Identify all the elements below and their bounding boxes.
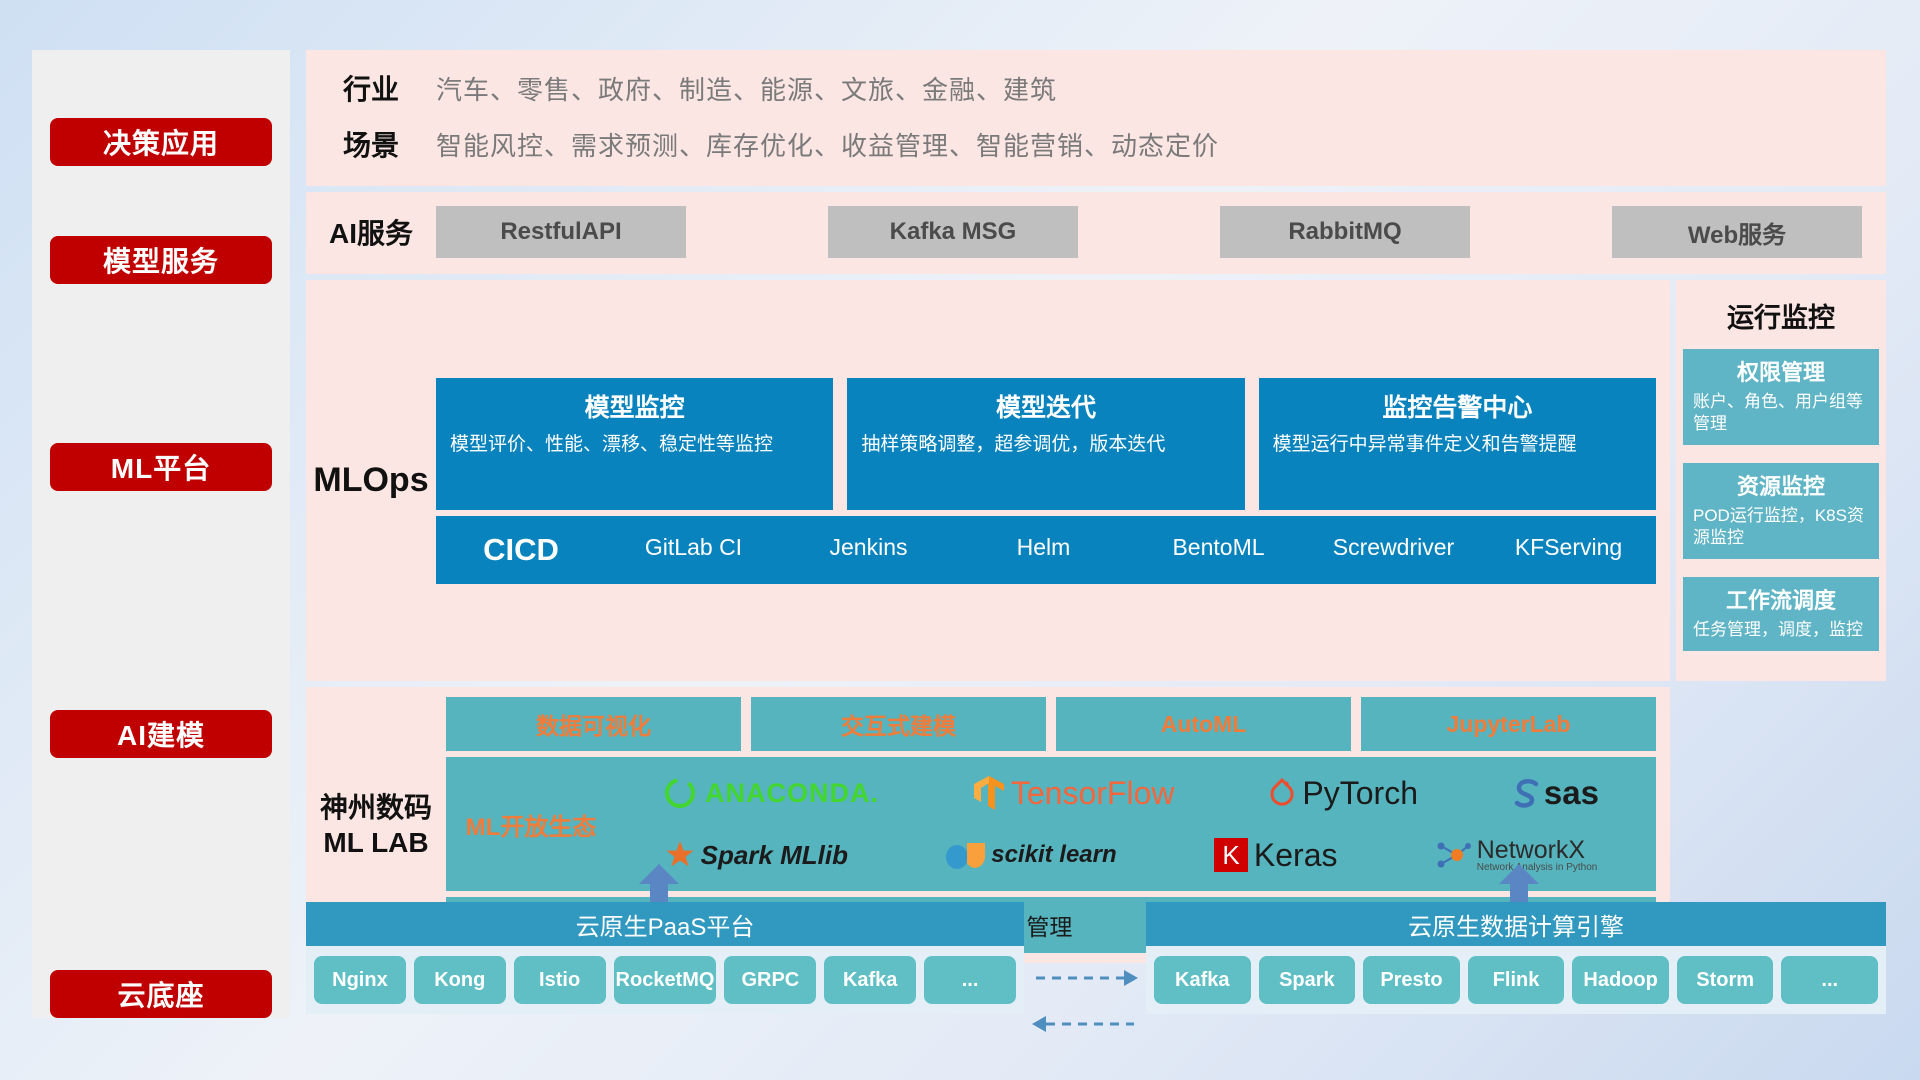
diagram-canvas: 决策应用 模型服务 ML平台 AI建模 云底座 行业 汽车、零售、政府、制造、能…: [0, 0, 1920, 1080]
industry-values: 汽车、零售、政府、制造、能源、文旅、金融、建筑: [436, 70, 1057, 107]
anaconda-icon: [663, 776, 697, 810]
mlops-card-alert-center[interactable]: 监控告警中心 模型运行中异常事件定义和告警提醒: [1259, 378, 1656, 510]
tensorflow-label: TensorFlow: [1011, 775, 1175, 812]
cloud-compute-box: 云原生数据计算引擎 Kafka Spark Presto Flink Hadoo…: [1146, 902, 1886, 1014]
rail-label: 决策应用: [103, 122, 219, 162]
cicd-item[interactable]: Screwdriver: [1306, 535, 1481, 565]
cloud-chip-kafka[interactable]: Kafka: [824, 956, 916, 1004]
industry-label: 行业: [306, 68, 436, 108]
ml-ecosystem-logo-row-1: ANACONDA. TensorFlow: [616, 763, 1646, 823]
sas-icon: [1512, 776, 1542, 810]
runtime-monitor-panel: 运行监控 权限管理 账户、角色、用户组等管理 资源监控 POD运行监控，K8S资…: [1676, 280, 1886, 681]
left-layer-rail: 决策应用 模型服务 ML平台 AI建模 云底座: [32, 50, 290, 1018]
ai-service-chip[interactable]: Kafka MSG: [828, 206, 1078, 258]
pytorch-icon: [1268, 776, 1296, 810]
monitor-card-workflow[interactable]: 工作流调度 任务管理，调度，监控: [1683, 577, 1879, 651]
cicd-bar: CICD GitLab CI Jenkins Helm BentoML Scre…: [436, 516, 1656, 584]
cicd-item[interactable]: GitLab CI: [606, 535, 781, 565]
ml-lab-chip-automl[interactable]: AutoML: [1056, 697, 1351, 751]
ai-service-chip[interactable]: RabbitMQ: [1220, 206, 1470, 258]
rail-label: 模型服务: [103, 240, 219, 280]
ml-lab-label: 神州数码 ML LAB: [306, 790, 446, 860]
networkx-label: NetworkX: [1477, 838, 1598, 863]
cloud-chip-storm[interactable]: Storm: [1677, 956, 1774, 1004]
rail-item-model-service[interactable]: 模型服务: [50, 236, 272, 284]
cloud-chip-flink[interactable]: Flink: [1468, 956, 1565, 1004]
cloud-paas-box: 云原生PaaS平台 Nginx Kong Istio RocketMQ GRPC…: [306, 902, 1024, 1014]
cloud-chip-rocketmq[interactable]: RocketMQ: [614, 956, 717, 1004]
cloud-chip-istio[interactable]: Istio: [514, 956, 606, 1004]
monitor-card-title: 工作流调度: [1693, 583, 1869, 615]
ml-lab-label-line2: ML LAB: [306, 825, 446, 860]
cicd-item-list: GitLab CI Jenkins Helm BentoML Screwdriv…: [606, 535, 1656, 565]
cloud-chip-presto[interactable]: Presto: [1363, 956, 1460, 1004]
cloud-compute-chip-list: Kafka Spark Presto Flink Hadoop Storm ..…: [1146, 946, 1886, 1014]
ai-service-label: AI服务: [306, 212, 436, 252]
anaconda-label: ANACONDA.: [705, 778, 879, 809]
ai-service-chip-list: RestfulAPI Kafka MSG RabbitMQ Web服务: [436, 206, 1886, 258]
rail-item-decision-app[interactable]: 决策应用: [50, 118, 272, 166]
cloud-paas-title: 云原生PaaS平台: [306, 902, 1024, 946]
scenario-values: 智能风控、需求预测、库存优化、收益管理、智能营销、动态定价: [436, 126, 1219, 163]
mlops-card-desc: 模型运行中异常事件定义和告警提醒: [1273, 432, 1642, 458]
monitor-card-desc: POD运行监控，K8S资源监控: [1693, 505, 1869, 549]
ai-service-band: AI服务 RestfulAPI Kafka MSG RabbitMQ Web服务: [306, 192, 1886, 274]
mlops-card-title: 监控告警中心: [1273, 388, 1642, 424]
cloud-chip-hadoop[interactable]: Hadoop: [1572, 956, 1669, 1004]
mlops-row: MLOps 模型监控 模型评价、性能、漂移、稳定性等监控 模型迭代 抽样策略调整…: [306, 280, 1886, 681]
pytorch-logo: PyTorch: [1268, 775, 1418, 812]
cicd-item[interactable]: Jenkins: [781, 535, 956, 565]
monitor-card-permission[interactable]: 权限管理 账户、角色、用户组等管理: [1683, 349, 1879, 445]
monitor-card-title: 资源监控: [1693, 469, 1869, 501]
mlops-card-model-monitoring[interactable]: 模型监控 模型评价、性能、漂移、稳定性等监控: [436, 378, 833, 510]
mlops-card-desc: 模型评价、性能、漂移、稳定性等监控: [450, 432, 819, 458]
cicd-item[interactable]: Helm: [956, 535, 1131, 565]
rail-item-ai-modeling[interactable]: AI建模: [50, 710, 272, 758]
cloud-chip-kafka[interactable]: Kafka: [1154, 956, 1251, 1004]
ml-lab-chip-interactive-modeling[interactable]: 交互式建模: [751, 697, 1046, 751]
mlops-band: MLOps 模型监控 模型评价、性能、漂移、稳定性等监控 模型迭代 抽样策略调整…: [306, 280, 1670, 681]
ml-lab-chip-list: 数据可视化 交互式建模 AutoML JupyterLab: [446, 697, 1656, 751]
ai-service-chip[interactable]: Web服务: [1612, 206, 1862, 258]
monitor-card-resource[interactable]: 资源监控 POD运行监控，K8S资源监控: [1683, 463, 1879, 559]
tensorflow-icon: [973, 774, 1005, 812]
cicd-item[interactable]: BentoML: [1131, 535, 1306, 565]
monitor-card-title: 权限管理: [1693, 355, 1869, 387]
ml-ecosystem-title: ML开放生态: [446, 807, 616, 842]
ml-lab-chip-jupyterlab[interactable]: JupyterLab: [1361, 697, 1656, 751]
mlops-card-title: 模型监控: [450, 388, 819, 424]
sas-logo: sas: [1512, 774, 1599, 812]
cloud-base-layer: 云原生PaaS平台 Nginx Kong Istio RocketMQ GRPC…: [306, 862, 1886, 1062]
ml-lab-chip-data-visualization[interactable]: 数据可视化: [446, 697, 741, 751]
monitor-card-desc: 任务管理，调度，监控: [1693, 619, 1869, 641]
rail-label: 云底座: [117, 974, 204, 1014]
scenario-line: 场景 智能风控、需求预测、库存优化、收益管理、智能营销、动态定价: [306, 124, 1886, 164]
cicd-title: CICD: [436, 532, 606, 568]
cicd-item[interactable]: KFServing: [1481, 535, 1656, 565]
mlops-card-list: 模型监控 模型评价、性能、漂移、稳定性等监控 模型迭代 抽样策略调整，超参调优，…: [436, 378, 1656, 510]
sas-label: sas: [1544, 774, 1599, 812]
cloud-chip-grpc[interactable]: GRPC: [724, 956, 816, 1004]
industry-line: 行业 汽车、零售、政府、制造、能源、文旅、金融、建筑: [306, 68, 1886, 108]
mlops-label: MLOps: [306, 461, 436, 500]
ml-lab-label-line1: 神州数码: [306, 790, 446, 825]
industry-scenario-band: 行业 汽车、零售、政府、制造、能源、文旅、金融、建筑 场景 智能风控、需求预测、…: [306, 50, 1886, 186]
cloud-chip-more[interactable]: ...: [1781, 956, 1878, 1004]
mlops-card-desc: 抽样策略调整，超参调优，版本迭代: [861, 432, 1230, 458]
mlops-card-model-iteration[interactable]: 模型迭代 抽样策略调整，超参调优，版本迭代: [847, 378, 1244, 510]
rail-label: ML平台: [111, 447, 211, 487]
cloud-compute-title: 云原生数据计算引擎: [1146, 902, 1886, 946]
scenario-label: 场景: [306, 124, 436, 164]
main-stack: 行业 汽车、零售、政府、制造、能源、文旅、金融、建筑 场景 智能风控、需求预测、…: [306, 50, 1886, 963]
mlops-content: 模型监控 模型评价、性能、漂移、稳定性等监控 模型迭代 抽样策略调整，超参调优，…: [436, 378, 1670, 584]
cloud-chip-more[interactable]: ...: [924, 956, 1016, 1004]
cloud-chip-spark[interactable]: Spark: [1259, 956, 1356, 1004]
pytorch-label: PyTorch: [1302, 775, 1418, 812]
mlops-card-title: 模型迭代: [861, 388, 1230, 424]
monitor-card-desc: 账户、角色、用户组等管理: [1693, 391, 1869, 435]
ai-service-chip[interactable]: RestfulAPI: [436, 206, 686, 258]
rail-label: AI建模: [117, 714, 205, 754]
cloud-paas-chip-list: Nginx Kong Istio RocketMQ GRPC Kafka ...: [306, 946, 1024, 1014]
tensorflow-logo: TensorFlow: [973, 774, 1175, 812]
cloud-chip-nginx[interactable]: Nginx: [314, 956, 406, 1004]
cloud-chip-kong[interactable]: Kong: [414, 956, 506, 1004]
bidirectional-dashed-arrows: [1032, 962, 1138, 1042]
runtime-monitor-title: 运行监控: [1727, 296, 1835, 335]
anaconda-logo: ANACONDA.: [663, 776, 879, 810]
rail-item-ml-platform[interactable]: ML平台: [50, 443, 272, 491]
rail-item-cloud-base[interactable]: 云底座: [50, 970, 272, 1018]
